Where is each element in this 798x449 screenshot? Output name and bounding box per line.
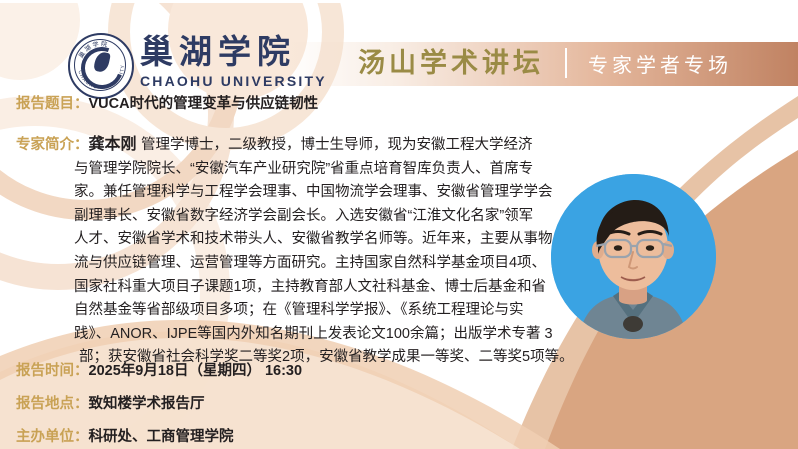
speaker-bio-text: 流与供应链管理、运营管理等方面研究。主持国家自然科学基金项目4项、 <box>74 255 546 271</box>
chaohu-university-seal-icon: 巢湖学院 CHAOHU UNIVERSITY <box>68 33 134 99</box>
lecture-time-value: 2025年9月18日（星期四） 16:30 <box>89 363 303 379</box>
series-subtitle: 专家学者专场 <box>588 50 732 80</box>
speaker-bio-text: 副理事长、安徽省数字经济学会副会长。入选安徽省“江淮文化名家”领军 <box>74 208 533 224</box>
title-divider <box>565 48 567 78</box>
lecture-venue-value: 致知楼学术报告厅 <box>89 396 205 412</box>
speaker-bio-text: 人才、安徽省学术和技术带头人、安徽省教学名师等。近年来，主要从事物 <box>74 231 553 247</box>
lecture-topic-value: VUCA时代的管理变革与供应链韧性 <box>89 96 319 112</box>
university-name-en: CHAOHU UNIVERSITY <box>140 73 327 89</box>
university-name-cn: 巢湖学院 <box>140 32 296 72</box>
speaker-bio-text: 践》、ANOR、IJPE等国内外知名期刊上发表论文100余篇；出版学术专著 3 <box>74 326 553 342</box>
speaker-bio-line: 与管理学院院长、“安徽汽车产业研究院”省重点培育智库负责人、首席专 <box>16 158 594 182</box>
svg-text:巢湖学院: 巢湖学院 <box>77 40 109 60</box>
svg-text:CHAOHU UNIVERSITY: CHAOHU UNIVERSITY <box>77 64 126 91</box>
speaker-bio-label: 专家简介： <box>16 137 89 153</box>
speaker-name: 龚本刚 <box>89 136 141 153</box>
speaker-bio-text: 家。兼任管理科学与工程学会理事、中国物流学会理事、安徽省管理学学会 <box>74 184 553 200</box>
lecture-organizer-label: 主办单位： <box>16 429 89 445</box>
lecture-venue: 报告地点：致知楼学术报告厅 <box>16 394 205 414</box>
lecture-organizer: 主办单位：科研处、工商管理学院 <box>16 427 234 447</box>
series-title: 汤山学术讲坛 <box>358 45 544 83</box>
speaker-bio-line: 副理事长、安徽省数字经济学会副会长。入选安徽省“江淮文化名家”领军 <box>16 205 594 229</box>
lecture-topic-row: 报告题目：VUCA时代的管理变革与供应链韧性 <box>16 94 318 114</box>
speaker-bio-line: 自然基金等省部级项目多项；在《管理科学学报》、《系统工程理论与实 <box>16 299 594 323</box>
seal-ring-text: 巢湖学院 CHAOHU UNIVERSITY <box>70 35 132 97</box>
speaker-bio-text: 与管理学院院长、“安徽汽车产业研究院”省重点培育智库负责人、首席专 <box>74 161 533 177</box>
lecture-time: 报告时间：2025年9月18日（星期四） 16:30 <box>16 361 302 381</box>
lecture-venue-label: 报告地点： <box>16 396 89 412</box>
lecture-topic-label: 报告题目： <box>16 96 89 112</box>
speaker-bio-line: 家。兼任管理科学与工程学会理事、中国物流学会理事、安徽省管理学学会 <box>16 181 594 205</box>
speaker-bio-line: 人才、安徽省学术和技术带头人、安徽省教学名师等。近年来，主要从事物 <box>16 228 594 252</box>
speaker-bio-text: 管理学博士，二级教授，博士生导师，现为安徽工程大学经济 <box>141 137 533 153</box>
portrait-illustration <box>551 174 716 339</box>
speaker-portrait <box>551 174 716 339</box>
university-logo: 巢湖学院 CHAOHU UNIVERSITY <box>68 33 134 99</box>
lecture-poster: 汤山学术讲坛 专家学者专场 巢湖学院 CHAOHU UNIVERSITY 巢湖学… <box>0 0 798 449</box>
speaker-bio-line: 践》、ANOR、IJPE等国内外知名期刊上发表论文100余篇；出版学术专著 3 <box>16 323 594 347</box>
speaker-bio-line: 国家社科重大项目子课题1项，主持教育部人文社科基金、博士后基金和省 <box>16 276 594 300</box>
speaker-bio-text: 国家社科重大项目子课题1项，主持教育部人文社科基金、博士后基金和省 <box>74 279 546 295</box>
speaker-bio-block: 专家简介：龚本刚 管理学博士，二级教授，博士生导师，现为安徽工程大学经济与管理学… <box>16 133 594 370</box>
speaker-bio-line: 专家简介：龚本刚 管理学博士，二级教授，博士生导师，现为安徽工程大学经济 <box>16 133 594 158</box>
speaker-bio-line: 流与供应链管理、运营管理等方面研究。主持国家自然科学基金项目4项、 <box>16 252 594 276</box>
lecture-time-label: 报告时间： <box>16 363 89 379</box>
speaker-bio-text: 自然基金等省部级项目多项；在《管理科学学报》、《系统工程理论与实 <box>74 302 524 318</box>
lecture-organizer-value: 科研处、工商管理学院 <box>89 429 234 445</box>
